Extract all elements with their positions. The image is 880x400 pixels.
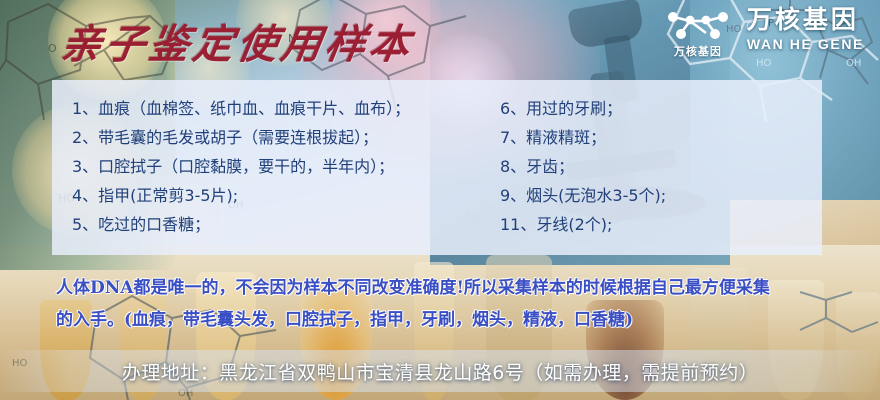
- list-item: 6、用过的牙刷；: [500, 94, 822, 123]
- note-line-1: 人体DNA都是唯一的，不会因为样本不同改变准确度!所以采集样本的时候根据自己最方…: [56, 278, 770, 298]
- sample-list-left-column: 1、血痕（血棉签、纸巾血、血痕干片、血布）； 2、带毛囊的毛发或胡子（需要连根拔…: [52, 80, 452, 255]
- logo-mark: 万核基因: [663, 8, 733, 59]
- sample-list-right-column: 6、用过的牙刷； 7、精液精斑； 8、牙齿； 9、烟头(无泡水3-5个); 11…: [452, 80, 822, 255]
- logo-mark-caption: 万核基因: [674, 43, 722, 59]
- sample-list-panel: 1、血痕（血棉签、纸巾血、血痕干片、血布）； 2、带毛囊的毛发或胡子（需要连根拔…: [52, 80, 822, 255]
- list-item: 5、吃过的口香糖；: [72, 210, 452, 239]
- list-item: 2、带毛囊的毛发或胡子（需要连根拔起）；: [72, 123, 452, 152]
- brand-name-en: WAN HE GENE: [747, 37, 864, 51]
- list-item: 9、烟头(无泡水3-5个);: [500, 181, 822, 210]
- list-item: 4、指甲(正常剪3-5片);: [72, 181, 452, 210]
- list-item: 3、口腔拭子（口腔黏膜，要干的，半年内）；: [72, 152, 452, 181]
- list-item: 7、精液精斑；: [500, 123, 822, 152]
- molecule-icon: [663, 8, 733, 40]
- note-paragraph: 人体DNA都是唯一的，不会因为样本不同改变准确度!所以采集样本的时候根据自己最方…: [56, 272, 846, 336]
- brand-name-cn: 万核基因: [747, 8, 859, 33]
- logo-wordmark: 万核基因 WAN HE GENE: [747, 8, 864, 51]
- list-item: 11、牙线(2个);: [500, 210, 822, 239]
- poster-root: O HO OH N NH O HO P HO OH HO OH 亲子鉴定使用样本: [0, 0, 880, 400]
- footer-address: 办理地址：黑龙江省双鸭山市宝清县龙山路6号（如需办理，需提前预约）: [0, 350, 880, 392]
- note-line-2: 的入手。(血痕，带毛囊头发，口腔拭子，指甲，牙刷，烟头，精液，口香糖): [56, 304, 846, 336]
- list-item: 8、牙齿；: [500, 152, 822, 181]
- page-title: 亲子鉴定使用样本: [57, 12, 418, 70]
- brand-logo: 万核基因 万核基因 WAN HE GENE: [663, 8, 864, 59]
- list-item: 1、血痕（血棉签、纸巾血、血痕干片、血布）；: [72, 94, 452, 123]
